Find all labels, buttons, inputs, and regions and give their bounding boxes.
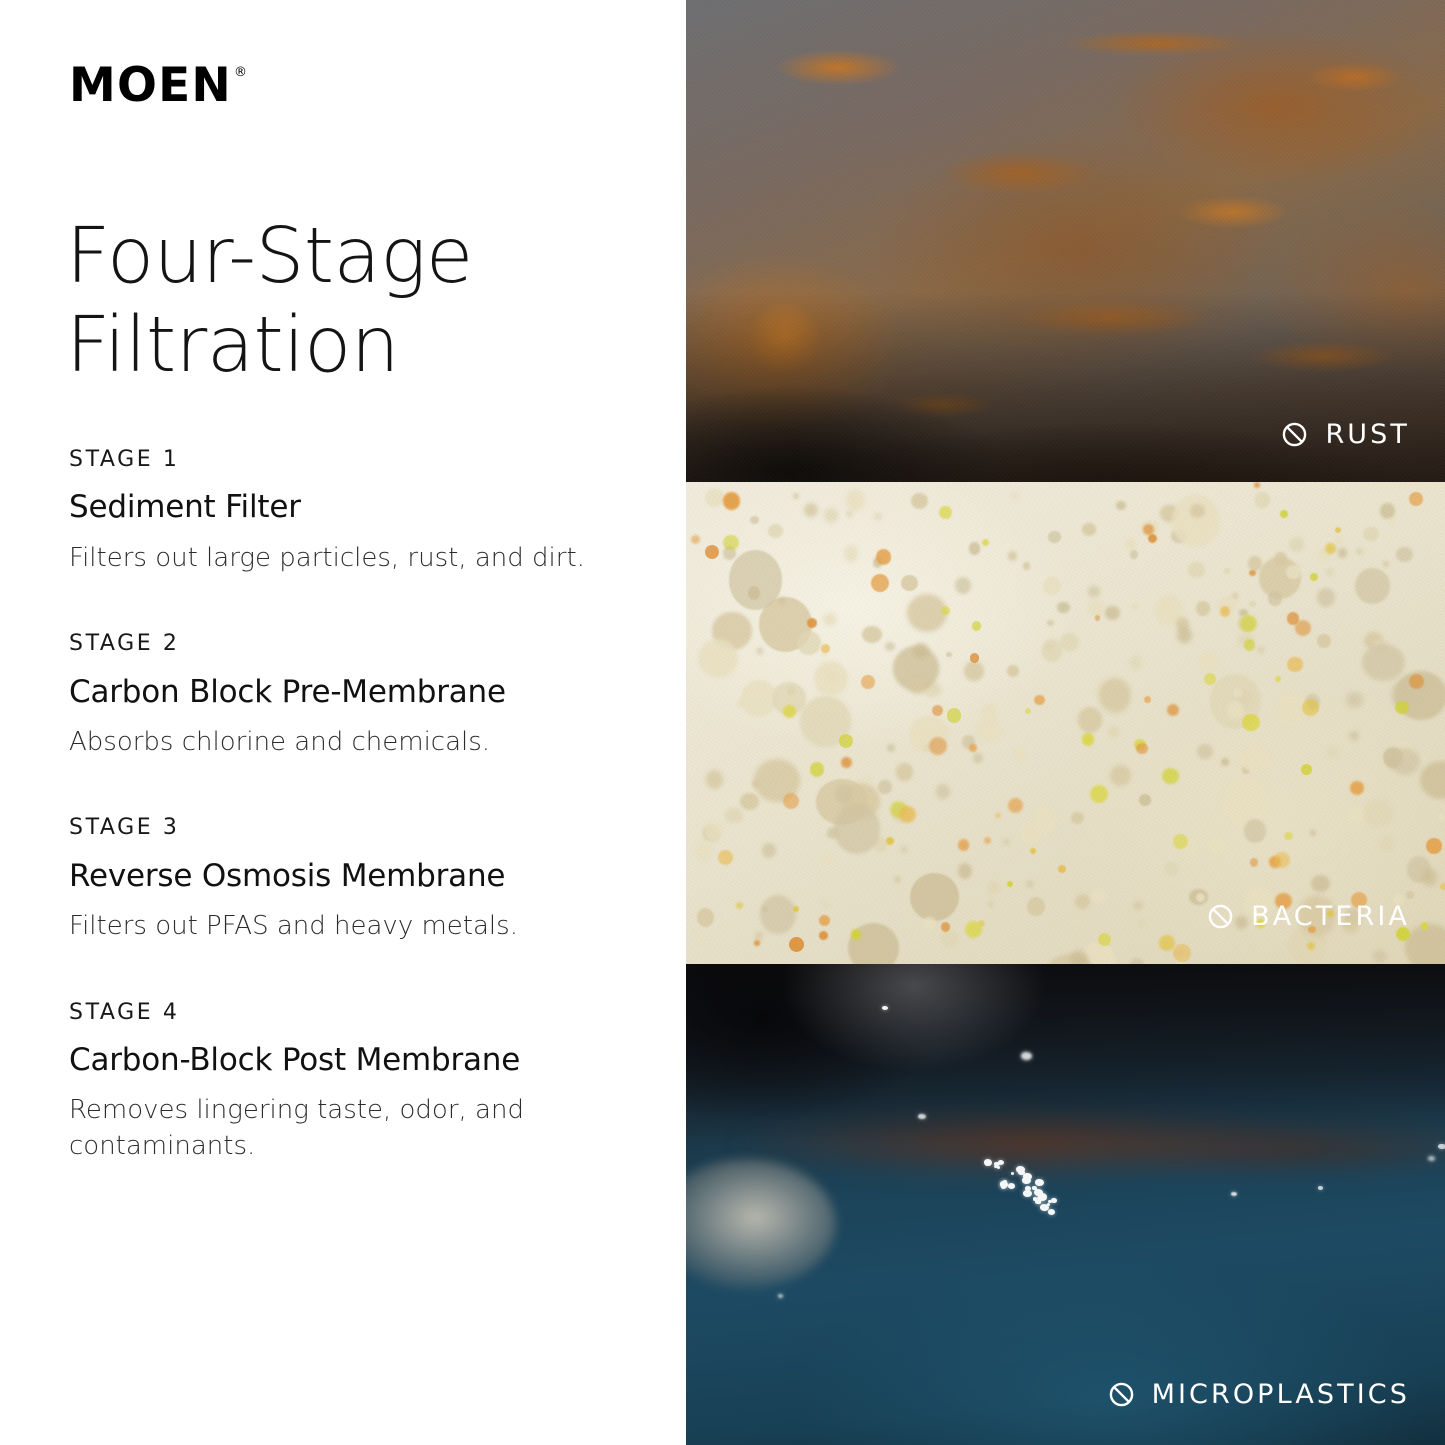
microplastic-particle [1438,1144,1445,1149]
microplastic-particle [1003,1180,1008,1184]
microplastic-particle [1047,1203,1050,1206]
stage-item: STAGE 4 Carbon-Block Post Membrane Remov… [69,1000,649,1165]
page-title: Four-Stage Filtration [66,212,626,391]
prohibition-icon [1281,421,1308,448]
microplastic-particle [1035,1200,1041,1205]
rust-texture-image [686,0,1445,482]
prohibition-icon [1207,903,1234,930]
stage-eyebrow: STAGE 1 [69,447,649,473]
stage-description: Filters out PFAS and heavy metals. [69,909,589,945]
registered-trademark-icon: ® [234,65,247,80]
stage-description: Absorbs chlorine and chemicals. [69,725,589,761]
headline-line-1: Four-Stage [66,212,626,301]
microplastic-particle [1025,1186,1031,1191]
stage-description: Filters out large particles, rust, and d… [69,541,589,577]
stage-item: STAGE 2 Carbon Block Pre-Membrane Absorb… [69,631,649,760]
stage-item: STAGE 1 Sediment Filter Filters out larg… [69,447,649,576]
microplastic-particle [918,1114,926,1119]
panel-label-bacteria: BACTERIA [1207,903,1410,930]
brand-name: MOEN [69,58,232,113]
moen-logo: MOEN® [69,62,245,109]
stage-eyebrow: STAGE 4 [69,1000,649,1026]
microplastic-particle [1022,1177,1031,1184]
headline-line-2: Filtration [66,301,626,390]
stage-description: Removes lingering taste, odor, and conta… [69,1093,589,1164]
panel-label-text: RUST [1325,421,1410,448]
panel-bacteria: BACTERIA [686,482,1445,964]
stage-eyebrow: STAGE 2 [69,631,649,657]
stage-title: Carbon-Block Post Membrane [69,1042,649,1079]
stage-item: STAGE 3 Reverse Osmosis Membrane Filters… [69,815,649,944]
content-column: MOEN® Four-Stage Filtration STAGE 1 Sedi… [0,0,686,1445]
rust-grain-layer [686,0,1445,482]
bacteria-texture-image [686,482,1445,964]
image-column: RUST BACTERIA [686,0,1445,1445]
microplastic-particle [778,1294,783,1298]
microplastic-particle [984,1159,992,1166]
panel-label-text: BACTERIA [1251,903,1410,930]
panel-label-microplastics: MICROPLASTICS [1108,1381,1410,1408]
filtration-infographic: MOEN® Four-Stage Filtration STAGE 1 Sedi… [0,0,1445,1445]
panel-label-rust: RUST [1281,421,1410,448]
stage-eyebrow: STAGE 3 [69,815,649,841]
bacteria-grain-layer [686,482,1445,964]
microplastic-particle [1428,1156,1435,1161]
stage-title: Reverse Osmosis Membrane [69,858,649,895]
stage-title: Sediment Filter [69,489,649,526]
microplastic-particle [1051,1198,1057,1202]
stage-title: Carbon Block Pre-Membrane [69,674,649,711]
microplastic-particle [1035,1179,1044,1186]
microplastics-image [686,964,1445,1445]
panel-rust: RUST [686,0,1445,482]
microplastic-particle [994,1165,998,1168]
microplastic-particle [1318,1186,1323,1190]
microplastic-particle [882,1006,888,1010]
prohibition-icon [1108,1381,1135,1408]
microplastics-top-shadow [686,964,1445,1144]
microplastic-particle [1048,1209,1055,1215]
stage-list: STAGE 1 Sediment Filter Filters out larg… [69,447,649,1164]
microplastic-particle [1021,1052,1032,1060]
panel-microplastics: MICROPLASTICS [686,964,1445,1445]
panel-label-text: MICROPLASTICS [1152,1381,1410,1408]
